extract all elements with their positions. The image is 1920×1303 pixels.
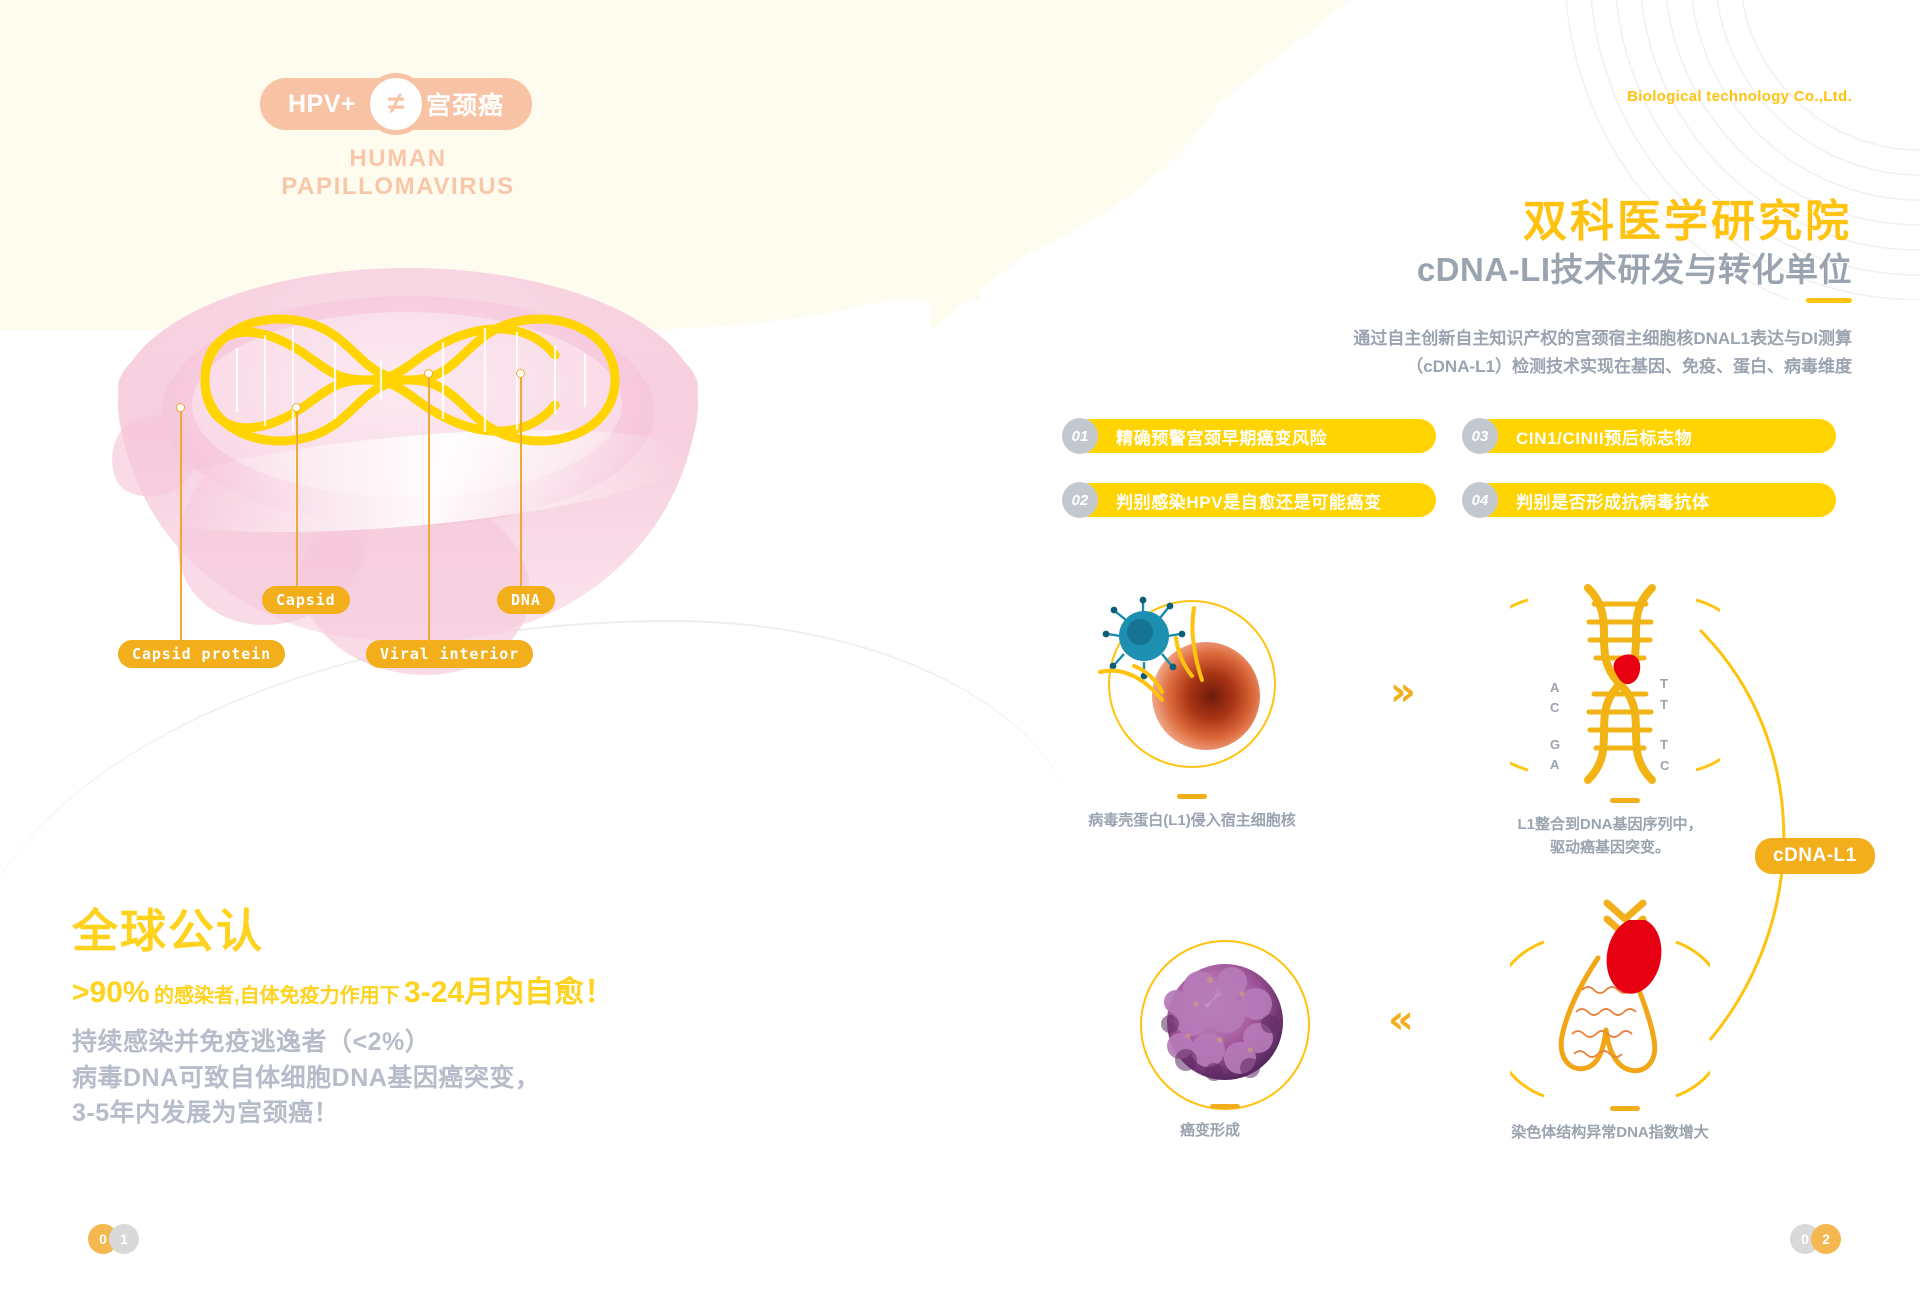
paragraph-line-2: （cDNA-L1）检测技术实现在基因、免疫、蛋白、病毒维度 [1282, 353, 1852, 381]
dna-mutation-icon [1510, 580, 1720, 790]
leader-line [180, 412, 182, 640]
global-consensus-body: 持续感染并免疫逃逸者（<2%） 病毒DNA可致自体细胞DNA基因癌突变， 3-5… [72, 1025, 540, 1132]
dna-base-right-2: T [1660, 697, 1668, 712]
feature-number: 03 [1462, 418, 1498, 454]
feature-item-02[interactable]: 02 判别感染HPV是自愈还是可能癌变 [1062, 482, 1436, 518]
step1-caption-rule [1177, 794, 1207, 799]
step1-caption: 病毒壳蛋白(L1)侵入宿主细胞核 [1010, 810, 1374, 833]
dna-base-left-4: A [1550, 757, 1559, 772]
institute-subtitle: cDNA-LI技术研发与转化单位 [1417, 243, 1852, 291]
hpv-badge-right-text: 宫颈癌 [426, 86, 504, 122]
hpv-badge-left-text: HPV+ [288, 90, 356, 119]
label-dna: DNA [497, 586, 555, 614]
step3-caption-rule [1610, 1106, 1640, 1111]
label-capsid-protein: Capsid protein [118, 640, 285, 668]
infographic-page: HPV+ 宫颈癌 ≠ HUMAN PAPILLOMAVIRUS [0, 0, 1920, 1303]
diagonal-split [930, 0, 1350, 330]
hpv-badge: HPV+ 宫颈癌 ≠ [260, 78, 532, 130]
stat-description: 的感染者,自体免疫力作用下 [154, 985, 400, 1007]
dna-base-right-1: T [1660, 676, 1668, 691]
dna-base-right-3: T [1660, 737, 1668, 752]
virus-entering-cell-icon [1098, 588, 1298, 788]
feature-label: 判别是否形成抗病毒抗体 [1474, 483, 1836, 517]
feature-item-04[interactable]: 04 判别是否形成抗病毒抗体 [1462, 482, 1836, 518]
step3-caption: 染色体结构异常DNA指数增大 [1450, 1122, 1770, 1145]
institute-paragraph: 通过自主创新自主知识产权的宫颈宿主细胞核DNAL1表达与DI测算 （cDNA-L… [1282, 325, 1852, 381]
leader-line [296, 412, 298, 586]
global-consensus-stat: >90% 的感染者,自体免疫力作用下 3-24月内自愈！ [72, 967, 614, 1011]
dna-base-left-1: A [1550, 680, 1559, 695]
hpv-subtitle: HUMAN PAPILLOMAVIRUS [248, 145, 548, 201]
step4-caption-rule [1210, 1104, 1240, 1109]
feature-label: 精确预警宫颈早期癌变风险 [1074, 419, 1436, 453]
step4-caption: 癌变形成 [1125, 1120, 1295, 1143]
leader-line [520, 378, 522, 586]
tumor-mass-icon [1150, 950, 1300, 1100]
body-line-3: 3-5年内发展为宫颈癌！ [72, 1096, 540, 1132]
leader-dot [176, 403, 185, 412]
company-tagline: Biological technology Co.,Ltd. [1627, 88, 1852, 105]
page-number-left: 0 1 [88, 1224, 139, 1254]
step2-caption-rule [1610, 798, 1640, 803]
feature-item-01[interactable]: 01 精确预警宫颈早期癌变风险 [1062, 418, 1436, 454]
label-viral-interior: Viral interior [366, 640, 533, 668]
feature-number: 01 [1062, 418, 1098, 454]
page-digit-2: 2 [1811, 1224, 1841, 1254]
page-digit-2: 1 [109, 1224, 139, 1254]
cdna-l1-badge: cDNA-L1 [1755, 838, 1875, 874]
stat-duration: 3-24月内自愈！ [404, 976, 614, 1009]
arrow-left-icon: « [1388, 1000, 1414, 1040]
arrow-right-icon: » [1390, 672, 1416, 712]
petri-dish-illustration [100, 240, 720, 660]
process-connector-arc [1690, 620, 1890, 1050]
leader-dot [424, 369, 433, 378]
body-line-1: 持续感染并免疫逃逸者（<2%） [72, 1025, 540, 1061]
not-equal-icon: ≠ [365, 73, 427, 135]
dna-base-right-4: C [1660, 758, 1669, 773]
dna-base-left-3: G [1550, 737, 1560, 752]
stat-percentage: >90% [72, 976, 150, 1009]
circular-dna-icon [185, 280, 635, 485]
institute-title: 双科医学研究院 [1523, 185, 1852, 249]
label-capsid: Capsid [262, 586, 350, 614]
body-line-2: 病毒DNA可致自体细胞DNA基因癌突变， [72, 1061, 540, 1097]
feature-number: 02 [1062, 482, 1098, 518]
leader-line [428, 378, 430, 640]
dna-base-left-2: C [1550, 700, 1559, 715]
feature-number: 04 [1462, 482, 1498, 518]
paragraph-line-1: 通过自主创新自主知识产权的宫颈宿主细胞核DNAL1表达与DI测算 [1282, 325, 1852, 353]
feature-label: 判别感染HPV是自愈还是可能癌变 [1074, 483, 1436, 517]
abnormal-chromosome-icon [1510, 920, 1710, 1120]
title-underline-rule [1806, 298, 1852, 303]
leader-dot [292, 403, 301, 412]
global-consensus-title: 全球公认 [72, 895, 264, 961]
page-number-right: 0 2 [1790, 1224, 1841, 1254]
feature-label: CIN1/CINII预后标志物 [1474, 419, 1836, 453]
feature-item-03[interactable]: 03 CIN1/CINII预后标志物 [1462, 418, 1836, 454]
leader-dot [516, 369, 525, 378]
